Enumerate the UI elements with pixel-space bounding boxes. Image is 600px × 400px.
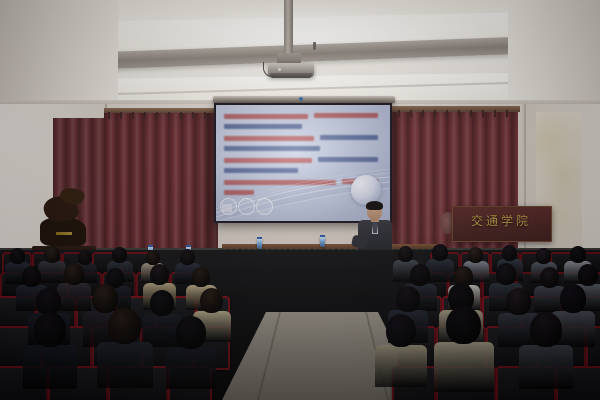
sculpture-gold-accent: [56, 232, 72, 235]
curtain-hook: [494, 110, 496, 117]
water-bottle-cap-3: [320, 235, 325, 237]
audience-member-body: [23, 345, 77, 389]
audience-member-head: [10, 248, 25, 264]
audience-member-head: [150, 290, 174, 316]
curtain-hook: [192, 112, 194, 119]
curtain-hook: [204, 112, 206, 119]
audience-member-body: [38, 261, 66, 283]
projector-indicator-light: [278, 68, 281, 71]
roller-screen-housing: [213, 96, 395, 103]
venue-plaque-text: 交通学院: [452, 212, 550, 229]
curtain-hook: [156, 112, 158, 119]
projection-screen: [216, 105, 390, 221]
audience-member-head: [22, 266, 41, 287]
audience-member-head: [530, 312, 562, 347]
presenter-hair: [366, 201, 383, 210]
audience-member-head: [386, 314, 416, 347]
projector-lens-icon: [270, 73, 312, 78]
left-stage-curtain: [104, 108, 218, 260]
curtain-hook: [410, 110, 412, 117]
audience-member-head: [496, 263, 516, 285]
audience-member-head: [446, 306, 481, 344]
audience-member-body: [375, 345, 427, 387]
curtain-hook: [482, 110, 484, 117]
audience-member-head: [506, 288, 531, 315]
audience-member-body: [434, 342, 494, 392]
audience-member-head: [468, 247, 483, 263]
water-bottle-3: [320, 236, 325, 247]
audience-member-head: [432, 244, 448, 261]
curtain-hook: [168, 112, 170, 119]
audience-member-head: [570, 246, 586, 263]
curtain-hook: [446, 110, 448, 117]
audience-member-body: [426, 259, 454, 282]
audience-member-head: [410, 264, 430, 286]
audience-member-head: [502, 245, 517, 261]
audience-member-head: [540, 267, 559, 288]
screen-housing-indicator: [299, 97, 303, 101]
audience-member-head: [192, 267, 210, 287]
curtain-hook: [120, 112, 122, 119]
audience-member-body: [166, 347, 216, 389]
audience-member-head: [560, 284, 586, 313]
audience-member-head: [176, 316, 206, 349]
right-curtain-rail: [382, 106, 520, 112]
water-bottle-2: [257, 238, 262, 249]
presenter-tie: [373, 222, 377, 233]
projector-mount-pole: [284, 0, 293, 56]
water-bottle-cap-0: [148, 245, 153, 247]
screen-vignette: [216, 105, 390, 221]
curtain-hook: [180, 112, 182, 119]
audience-member-head: [34, 312, 66, 347]
audience-member-head: [536, 248, 551, 264]
ceiling-sensor-icon: [313, 42, 316, 50]
audience-member-head: [396, 286, 420, 312]
curtain-hook: [108, 112, 110, 119]
curtain-hook: [144, 112, 146, 119]
audience-member-head: [146, 250, 160, 265]
curtain-hook: [458, 110, 460, 117]
audience-member-head: [112, 247, 127, 263]
ceiling-soffit-left: [0, 0, 118, 108]
curtain-hook: [506, 110, 508, 117]
audience-member-body: [519, 345, 573, 389]
water-bottle-cap-1: [186, 245, 191, 247]
curtain-hook: [434, 110, 436, 117]
audience-member-head: [78, 250, 92, 265]
ceiling-soffit-right: [508, 0, 600, 108]
curtain-hook: [422, 110, 424, 117]
audience-member-head: [398, 246, 413, 262]
audience-member-head: [150, 264, 169, 285]
audience-member-body: [57, 283, 91, 311]
audience-member-head: [108, 308, 141, 344]
audience-member-body: [97, 342, 153, 388]
audience-member-head: [92, 284, 118, 313]
curtain-hook: [398, 110, 400, 117]
lecture-hall-photo: 交通学院: [0, 0, 600, 400]
audience-member-head: [578, 264, 598, 286]
audience-member-head: [200, 288, 223, 313]
audience-member-head: [44, 246, 60, 263]
audience-member-head: [64, 263, 84, 285]
audience-member-head: [180, 249, 195, 265]
water-bottle-cap-2: [257, 237, 262, 239]
curtain-hook: [470, 110, 472, 117]
curtain-hook: [132, 112, 134, 119]
audience-member-head: [36, 288, 61, 315]
